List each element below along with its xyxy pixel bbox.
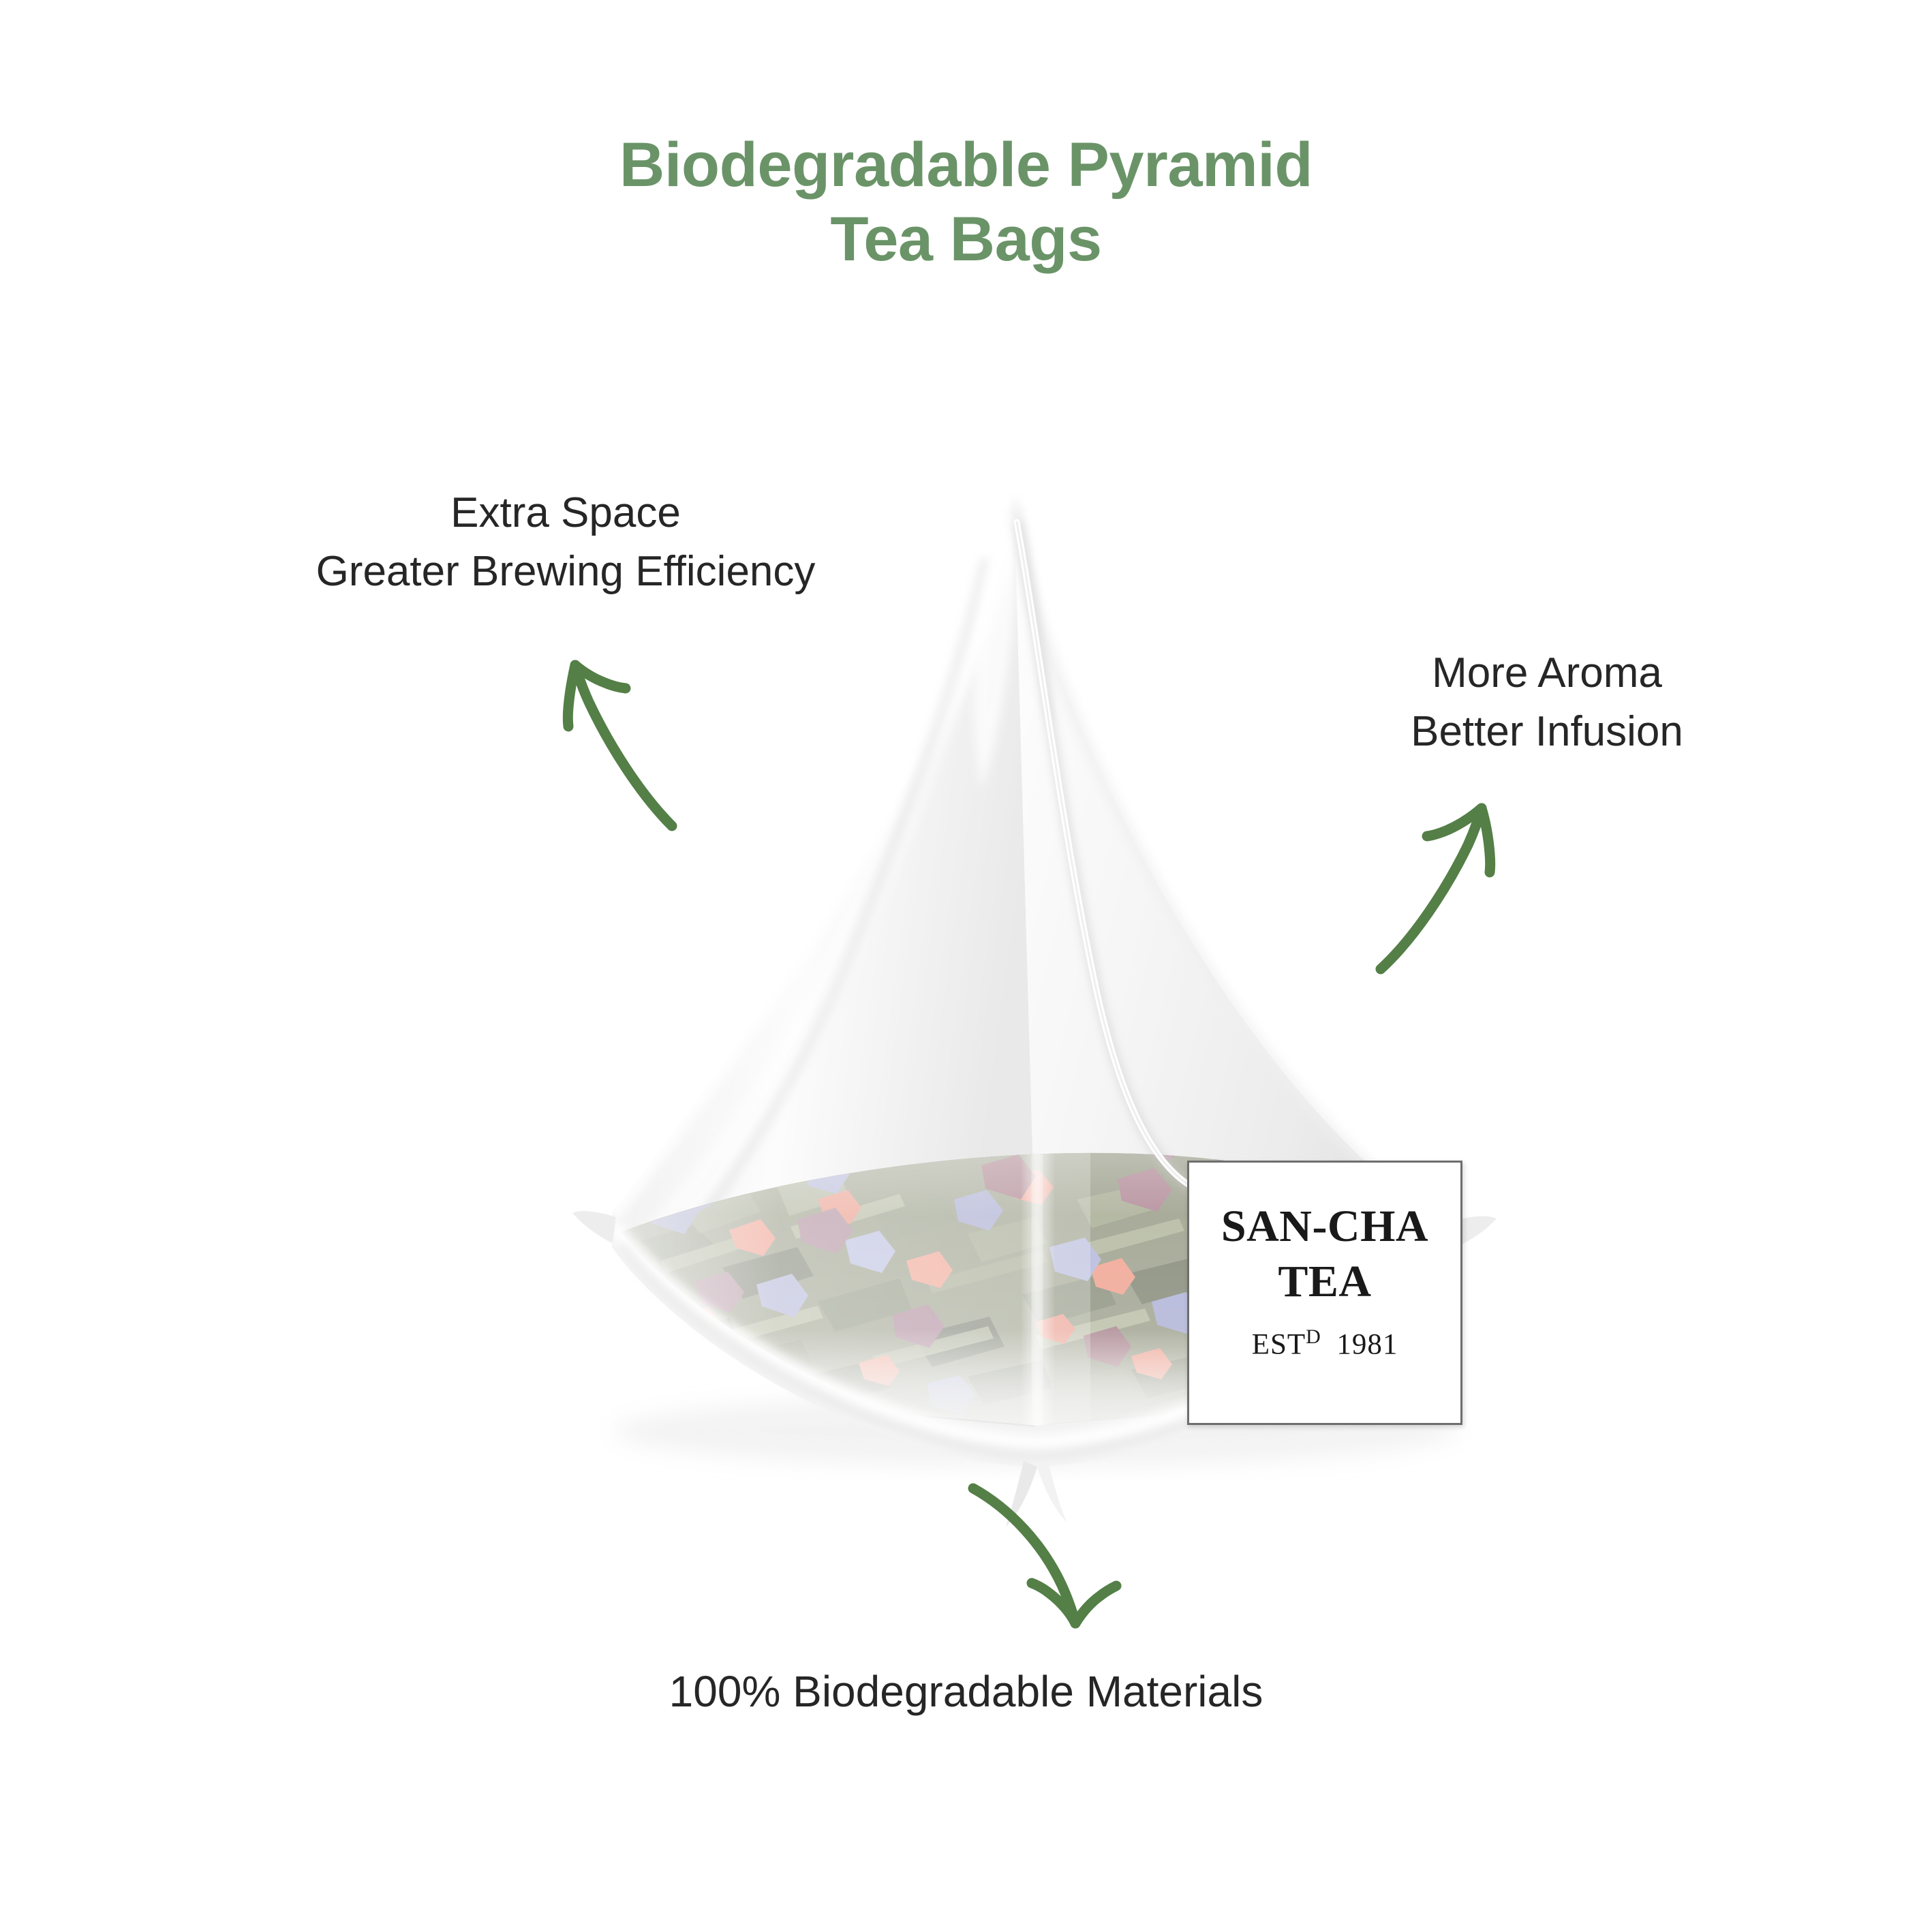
estd-prefix: EST [1252,1329,1306,1361]
callout-extra-space: Extra Space Greater Brewing Efficiency [225,484,906,600]
callout-biodegradable-materials: 100% Biodegradable Materials [0,1661,1932,1721]
title-line-2: Tea Bags [0,202,1932,277]
callout-extra-space-line-2: Greater Brewing Efficiency [225,542,906,601]
title-line-1: Biodegradable Pyramid [619,130,1313,200]
callout-biodegradable-line-1: 100% Biodegradable Materials [0,1661,1932,1721]
tag-brand-line-1: SAN-CHA [1221,1203,1428,1251]
page-title: Biodegradable Pyramid Tea Bags [0,128,1932,276]
infographic-canvas: Biodegradable Pyramid Tea Bags [0,0,1932,1932]
estd-superscript: D [1306,1325,1321,1348]
callout-more-aroma: More Aroma Better Infusion [1336,644,1758,761]
tag-established: ESTD 1981 [1252,1325,1398,1361]
estd-year: 1981 [1336,1329,1398,1361]
curved-arrow-up-left-icon [538,607,770,838]
callout-more-aroma-line-2: Better Infusion [1336,703,1758,761]
callout-more-aroma-line-1: More Aroma [1336,644,1758,703]
curved-arrow-up-right-icon [1356,756,1581,981]
callout-extra-space-line-1: Extra Space [225,484,906,542]
curved-arrow-down-icon [947,1479,1172,1683]
brand-tag: SAN-CHA TEA ESTD 1981 [1187,1161,1462,1425]
tag-brand-line-2: TEA [1278,1259,1371,1306]
